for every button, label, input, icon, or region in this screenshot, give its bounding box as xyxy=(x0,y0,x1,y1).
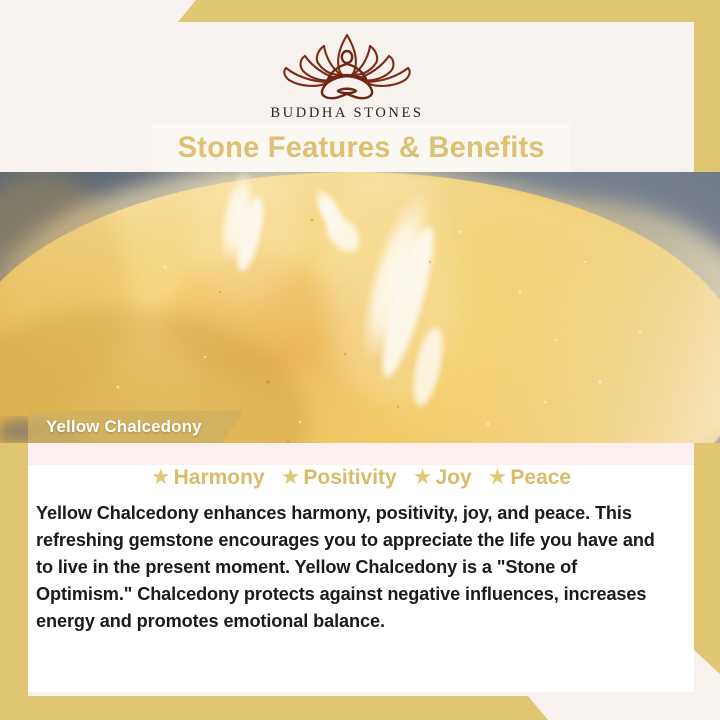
description-card: ★ Harmony ★ Positivity ★ Joy ★ Peace Yel… xyxy=(28,443,694,692)
star-icon: ★ xyxy=(281,466,301,488)
brand-name: BUDDHA STONES xyxy=(270,105,423,122)
description-text: Yellow Chalcedony enhances harmony, posi… xyxy=(36,499,668,634)
stone-photo-image xyxy=(0,172,720,443)
benefit-label: Harmony xyxy=(174,466,265,490)
stone-name-badge: Yellow Chalcedony xyxy=(28,411,244,443)
benefit-label: Joy xyxy=(435,466,471,490)
benefit-item-peace: ★ Peace xyxy=(488,466,571,490)
benefit-item-joy: ★ Joy xyxy=(413,466,472,490)
star-icon: ★ xyxy=(413,466,433,488)
benefit-label: Positivity xyxy=(303,466,396,490)
gold-border-bottom xyxy=(0,696,720,720)
page-title: Stone Features & Benefits xyxy=(177,131,544,165)
infographic-card: BUDDHA STONES Stone Features & Benefits xyxy=(0,0,720,720)
stone-name-text: Yellow Chalcedony xyxy=(46,417,202,437)
star-icon: ★ xyxy=(488,466,508,488)
title-panel: Stone Features & Benefits xyxy=(152,124,570,172)
benefit-item-harmony: ★ Harmony xyxy=(151,466,265,490)
benefits-list: ★ Harmony ★ Positivity ★ Joy ★ Peace xyxy=(28,443,694,491)
benefit-label: Peace xyxy=(510,466,571,490)
brand-logo: BUDDHA STONES xyxy=(270,30,423,122)
gold-border-top xyxy=(0,0,720,22)
benefit-item-positivity: ★ Positivity xyxy=(281,466,397,490)
stone-photo: Yellow Chalcedony xyxy=(0,172,720,443)
star-icon: ★ xyxy=(151,466,171,488)
lotus-meditation-icon xyxy=(272,30,422,104)
